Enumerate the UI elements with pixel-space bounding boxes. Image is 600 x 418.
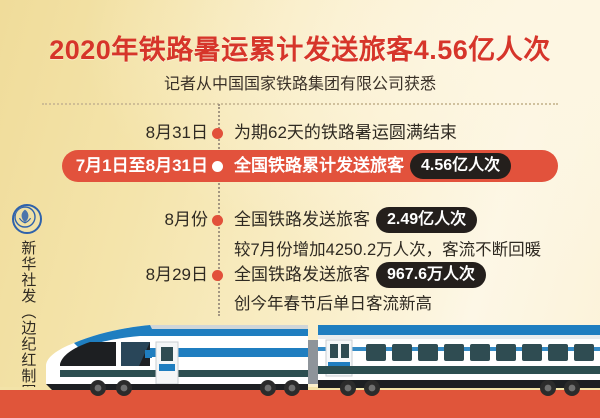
timeline-row-label: 全国铁路累计发送旅客	[234, 156, 404, 175]
timeline-row-label: 全国铁路发送旅客	[234, 265, 370, 284]
value-badge: 4.56亿人次	[410, 153, 511, 179]
high-speed-train-illustration	[0, 300, 600, 396]
timeline-row-text: 为期62天的铁路暑运圆满结束	[234, 118, 457, 148]
timeline-row-date: 8月31日	[146, 118, 208, 148]
page-subtitle: 记者从中国国家铁路集团有限公司获悉	[0, 70, 600, 94]
credit-agency: 新华社发	[19, 240, 36, 304]
timeline-row: 8月31日 为期62天的铁路暑运圆满结束	[0, 118, 600, 148]
timeline-dot-icon	[212, 215, 223, 226]
page-title: 2020年铁路暑运累计发送旅客4.56亿人次	[0, 28, 600, 67]
passenger-coach	[318, 325, 600, 396]
timeline-row-highlight: 7月1日至8月31日 全国铁路累计发送旅客4.56亿人次	[0, 150, 600, 182]
timeline-row-date: 7月1日至8月31日	[76, 150, 208, 182]
value-badge: 967.6万人次	[376, 262, 486, 288]
timeline-dot-icon	[212, 161, 223, 172]
infographic-poster: 2020年铁路暑运累计发送旅客4.56亿人次 记者从中国国家铁路集团有限公司获悉…	[0, 0, 600, 418]
timeline-row-text: 全国铁路累计发送旅客4.56亿人次	[234, 150, 511, 182]
timeline-dot-icon	[212, 128, 223, 139]
header-divider	[42, 103, 558, 105]
locomotive	[46, 325, 308, 396]
timeline-row-text: 全国铁路发送旅客2.49亿人次	[234, 205, 477, 235]
timeline-row: 8月份 全国铁路发送旅客2.49亿人次	[0, 205, 600, 235]
timeline-row-label: 全国铁路发送旅客	[234, 210, 370, 229]
timeline-row: 8月29日 全国铁路发送旅客967.6万人次	[0, 260, 600, 290]
value-badge: 2.49亿人次	[376, 207, 477, 233]
timeline-row-date: 8月份	[165, 205, 208, 235]
xinhua-logo-icon	[12, 204, 42, 234]
timeline-row-date: 8月29日	[146, 260, 208, 290]
timeline-dot-icon	[212, 270, 223, 281]
timeline-row-text: 全国铁路发送旅客967.6万人次	[234, 260, 486, 290]
